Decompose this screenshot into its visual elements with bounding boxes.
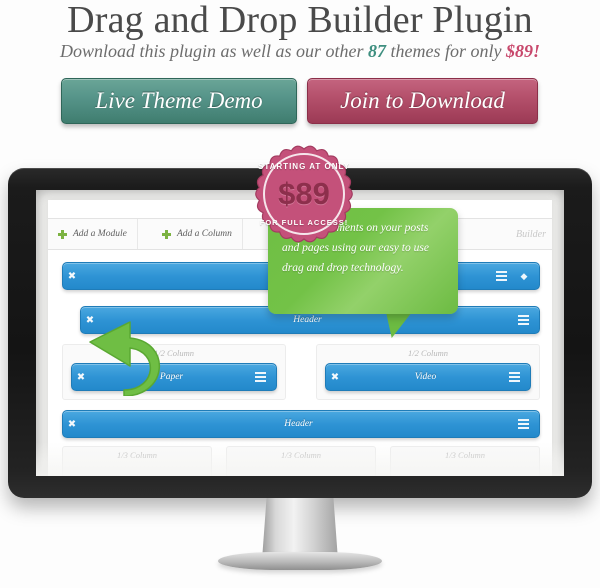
badge-price-text: $89 xyxy=(248,176,360,212)
close-icon[interactable]: ✖ xyxy=(63,419,81,430)
half-column-left[interactable]: 1/2 Column ✖ Paper xyxy=(62,344,286,400)
list-icon[interactable] xyxy=(507,372,523,382)
page-title: Drag and Drop Builder Plugin xyxy=(0,0,600,42)
close-icon[interactable]: ✖ xyxy=(72,372,90,383)
subtitle-mid: themes for only xyxy=(386,41,506,61)
row-label: Header xyxy=(81,419,516,429)
code-icon[interactable]: ◆ xyxy=(517,271,531,282)
subtitle-pre: Download this plugin as well as our othe… xyxy=(60,41,368,61)
list-icon[interactable] xyxy=(516,315,532,325)
plus-icon xyxy=(58,230,67,239)
monitor-stand-base xyxy=(218,552,382,570)
third-column-1-label: 1/3 Column xyxy=(63,450,211,460)
third-column-3-label: 1/3 Column xyxy=(391,450,539,460)
add-a-column-label: Add a Column xyxy=(177,229,232,239)
row-label: Header xyxy=(99,315,516,325)
half-column-left-label: 1/2 Column xyxy=(63,348,285,358)
module-paper-label: Paper xyxy=(90,372,253,382)
builder-title: Builder xyxy=(516,219,546,249)
half-column-right[interactable]: 1/2 Column ✖ Video xyxy=(316,344,540,400)
list-icon[interactable] xyxy=(494,271,510,281)
price-badge: STARTING AT ONLY $89 FOR FULL ACCESS! xyxy=(248,138,360,250)
cta-button-row: Live Theme Demo Join to Download xyxy=(0,78,600,124)
page-subtitle: Download this plugin as well as our othe… xyxy=(0,40,600,62)
list-icon[interactable] xyxy=(516,419,532,429)
monitor-stand-neck xyxy=(262,498,338,560)
price-badge-text: STARTING AT ONLY $89 FOR FULL ACCESS! xyxy=(248,138,360,250)
module-paper[interactable]: ✖ Paper xyxy=(71,363,277,391)
third-column-2-label: 1/3 Column xyxy=(227,450,375,460)
close-icon[interactable]: ✖ xyxy=(326,372,344,383)
add-a-column-button[interactable]: Add a Column xyxy=(152,219,243,249)
builder-row-header-bottom[interactable]: ✖ Header xyxy=(62,410,540,438)
half-column-right-label: 1/2 Column xyxy=(317,348,539,358)
third-column-3[interactable]: 1/3 Column xyxy=(390,446,540,476)
badge-top-text: STARTING AT ONLY xyxy=(248,162,360,171)
subtitle-price: $89! xyxy=(506,41,540,61)
live-theme-demo-button[interactable]: Live Theme Demo xyxy=(61,78,297,124)
page-root: Drag and Drop Builder Plugin Download th… xyxy=(0,0,600,588)
join-to-download-button[interactable]: Join to Download xyxy=(307,78,538,124)
list-icon[interactable] xyxy=(253,372,269,382)
plus-icon xyxy=(162,230,171,239)
module-video-label: Video xyxy=(344,372,507,382)
close-icon[interactable]: ✖ xyxy=(63,271,81,282)
subtitle-theme-count: 87 xyxy=(368,41,386,61)
close-icon[interactable]: ✖ xyxy=(81,315,99,326)
add-a-module-button[interactable]: Add a Module xyxy=(48,219,138,249)
module-video[interactable]: ✖ Video xyxy=(325,363,531,391)
badge-bottom-text: FOR FULL ACCESS! xyxy=(248,218,360,227)
third-column-2[interactable]: 1/3 Column xyxy=(226,446,376,476)
third-column-1[interactable]: 1/3 Column xyxy=(62,446,212,476)
add-a-module-label: Add a Module xyxy=(73,229,127,239)
